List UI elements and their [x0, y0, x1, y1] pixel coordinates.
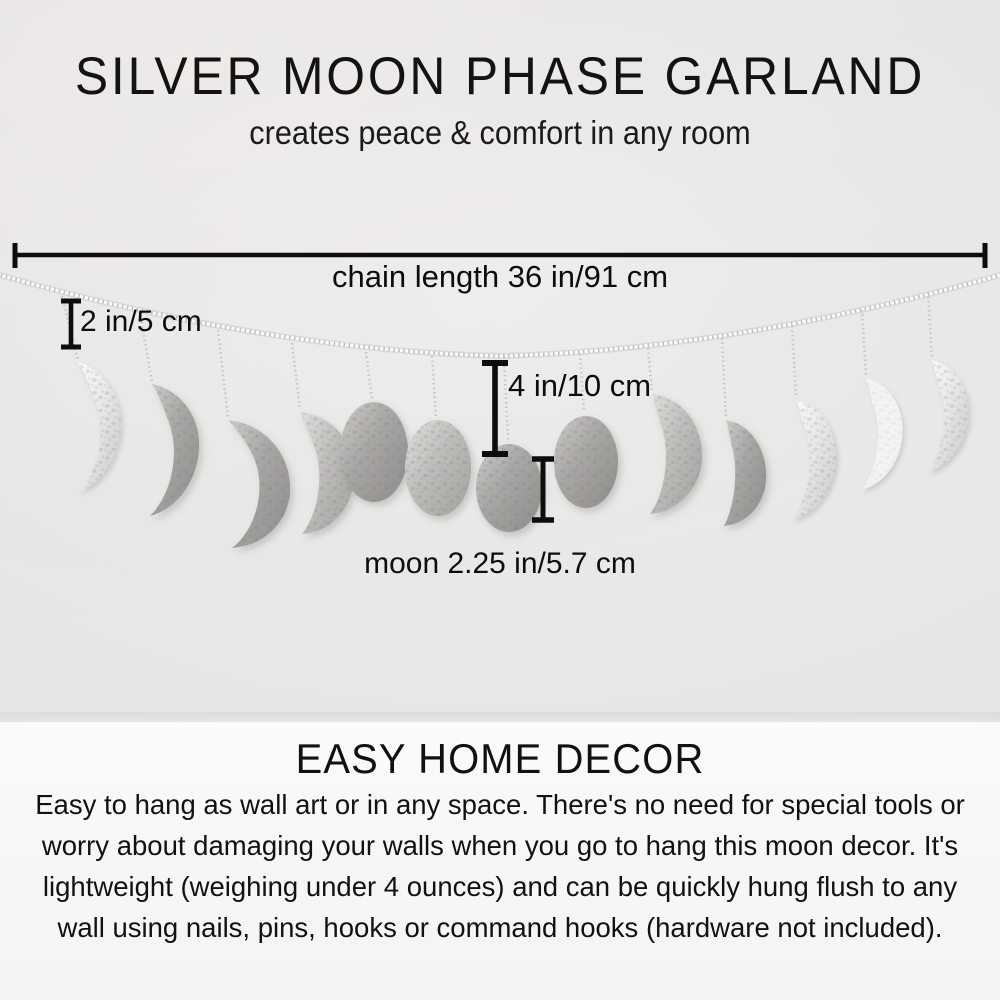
- info-panel-title: EASY HOME DECOR: [25, 735, 975, 783]
- info-panel-body-text: Easy to hang as wall art or in any space…: [35, 789, 965, 943]
- info-panel: EASY HOME DECOR Easy to hang as wall art…: [0, 722, 1000, 1000]
- page-title: SILVER MOON PHASE GARLAND: [30, 46, 970, 107]
- moon-pendant-6: [405, 356, 471, 516]
- dimension-drop: [61, 300, 81, 348]
- dimension-label-drop: 2 in/5 cm: [80, 305, 202, 339]
- moon-pendant-10: [722, 338, 766, 526]
- garland-illustration: [0, 0, 1000, 722]
- product-infographic: SILVER MOON PHASE GARLAND creates peace …: [0, 0, 1000, 1000]
- moon-pendant-3: [218, 330, 290, 548]
- moon-pendant-9: [648, 348, 702, 514]
- dimension-label-moon-size: moon 2.25 in/5.7 cm: [0, 547, 1000, 581]
- moon-pendant-11: [792, 326, 837, 520]
- page-subtitle: creates peace & comfort in any room: [35, 114, 965, 152]
- moon-pendant-5: [340, 352, 408, 502]
- moon-pendant-13: [928, 292, 969, 472]
- info-panel-body: Easy to hang as wall art or in any space…: [22, 784, 978, 948]
- product-photo: SILVER MOON PHASE GARLAND creates peace …: [0, 0, 1000, 722]
- dimension-label-chain-length: chain length 36 in/91 cm: [0, 259, 1000, 295]
- moon-pendant-12: [862, 310, 903, 490]
- moon-pendant-2: [140, 313, 199, 516]
- dimension-label-hang-length: 4 in/10 cm: [508, 368, 651, 404]
